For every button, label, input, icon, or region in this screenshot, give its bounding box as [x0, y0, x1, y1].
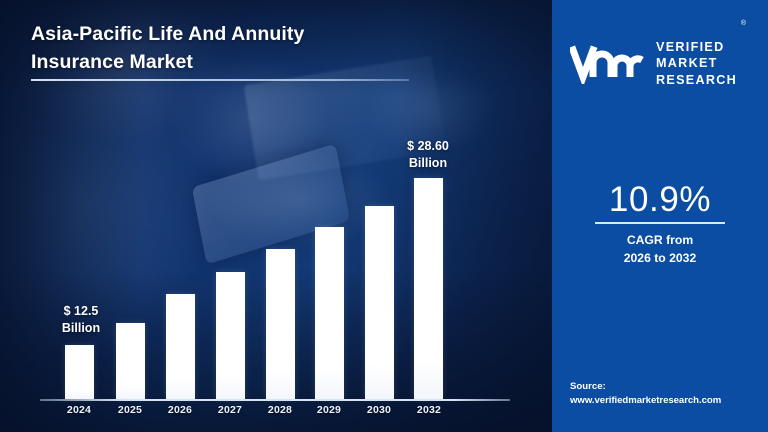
x-tick-2025: 2025: [105, 404, 155, 416]
value-label-first: $ 12.5 Billion: [38, 303, 124, 336]
brand-panel: VERIFIED MARKET RESEARCH ® 10.9% CAGR fr…: [552, 0, 768, 432]
source-url[interactable]: www.verifiedmarketresearch.com: [570, 394, 765, 408]
x-tick-2028: 2028: [255, 404, 305, 416]
x-tick-2024: 2024: [54, 404, 104, 416]
chart-panel: Asia-Pacific Life And Annuity Insurance …: [0, 0, 552, 432]
x-axis-line: [40, 399, 510, 401]
source-label: Source:: [570, 380, 765, 394]
bar-2024: [65, 345, 94, 399]
x-tick-2029: 2029: [304, 404, 354, 416]
bar-2026: [166, 294, 195, 399]
infographic-canvas: Asia-Pacific Life And Annuity Insurance …: [0, 0, 768, 432]
cagr-caption: CAGR from 2026 to 2032: [552, 232, 768, 267]
registered-trademark-icon: ®: [741, 19, 746, 28]
bar-2027: [216, 272, 245, 399]
brand-logo-lines: VERIFIED MARKET RESEARCH: [656, 40, 737, 87]
bar-2029: [315, 227, 344, 399]
x-tick-2027: 2027: [205, 404, 255, 416]
x-tick-2026: 2026: [155, 404, 205, 416]
brand-logo: VERIFIED MARKET RESEARCH ®: [570, 22, 737, 106]
bar-2028: [266, 249, 295, 399]
x-tick-2032: 2032: [404, 404, 454, 416]
brand-logo-text: VERIFIED MARKET RESEARCH ®: [656, 22, 737, 106]
cagr-divider: [595, 222, 725, 224]
bar-2025: [116, 323, 145, 399]
x-tick-2030: 2030: [354, 404, 404, 416]
bar-2032: [414, 178, 443, 399]
bar-2030: [365, 206, 394, 399]
bar-chart: $ 12.5 Billion $ 28.60 Billion 2024 2025…: [0, 0, 552, 432]
value-label-last: $ 28.60 Billion: [382, 138, 474, 171]
vmr-logo-icon: [570, 44, 646, 84]
source-block: Source: www.verifiedmarketresearch.com: [570, 380, 765, 409]
cagr-value: 10.9%: [552, 180, 768, 220]
